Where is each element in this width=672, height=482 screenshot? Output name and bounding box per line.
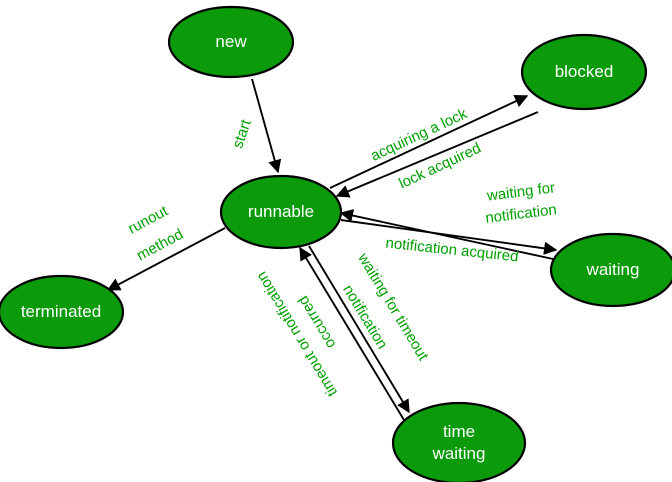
- edge-runnable-to-timewaiting: [309, 246, 409, 412]
- edge-waiting-to-runnable: [341, 213, 553, 259]
- diagram-canvas: [0, 0, 672, 482]
- node-blocked[interactable]: [522, 35, 646, 109]
- node-runnable[interactable]: [221, 176, 341, 248]
- edge-blocked-to-runnable: [337, 112, 538, 196]
- edge-new-to-runnable: [252, 79, 278, 172]
- node-waiting[interactable]: [551, 234, 672, 306]
- edge-runnable-to-blocked: [330, 96, 527, 188]
- node-timewaiting[interactable]: [393, 403, 525, 482]
- node-terminated[interactable]: [0, 276, 123, 348]
- node-new[interactable]: [169, 7, 293, 77]
- edge-runnable-to-terminated: [108, 228, 225, 290]
- state-diagram: new blocked runnable terminated waiting …: [0, 0, 672, 482]
- edge-runnable-to-waiting: [341, 220, 556, 250]
- edge-timewaiting-to-runnable: [300, 248, 404, 420]
